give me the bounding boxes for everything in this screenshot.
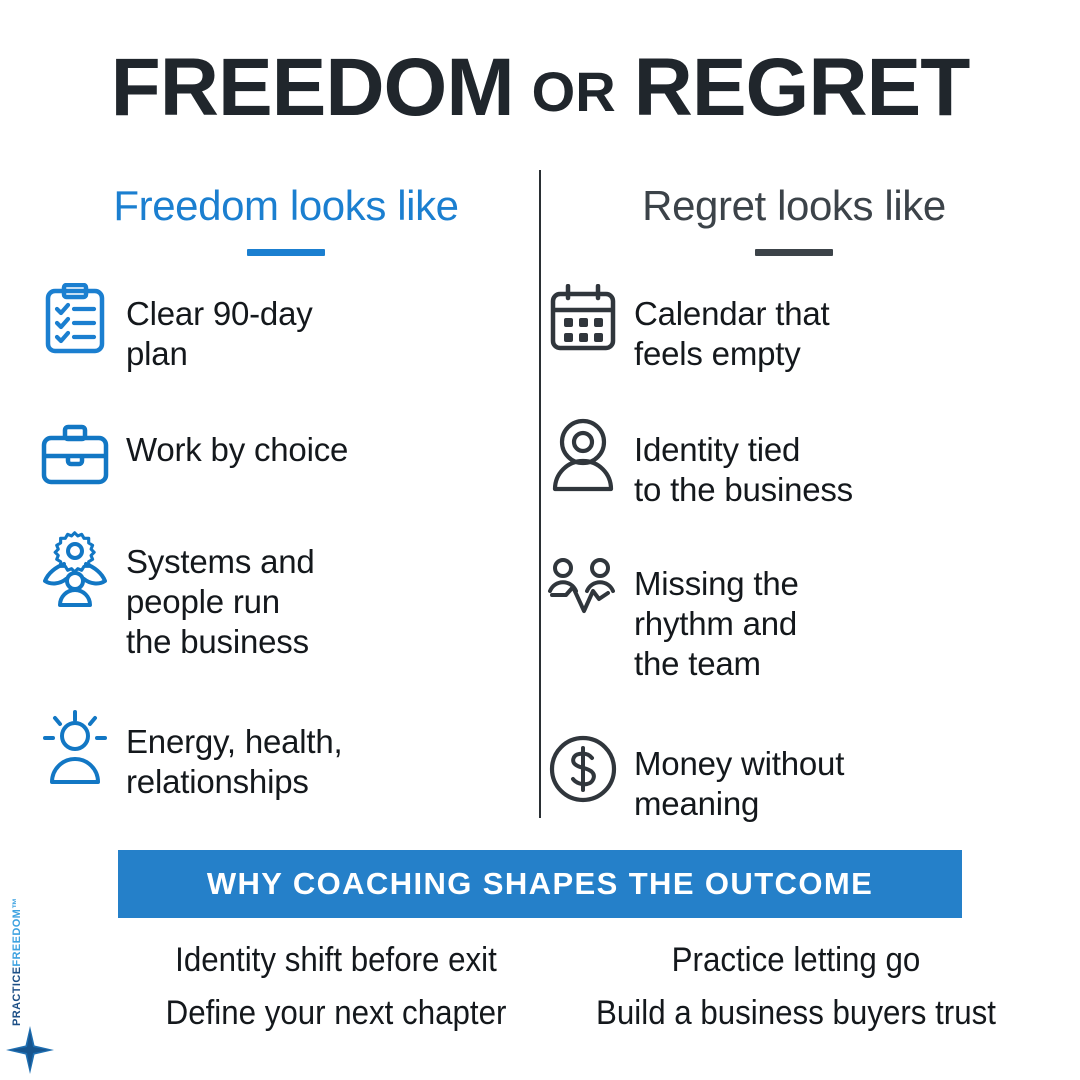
regret-column: Regret looks like [544,170,1044,830]
brand-wordmark: PRACTICEFREEDOM™ [11,930,23,1026]
page-title: FREEDOMORREGRET [0,44,1080,140]
list-item-label: Energy, health, relationships [114,704,343,802]
footer-row: Define your next chapter Build a busines… [110,987,1030,1040]
gear-people-icon [36,524,114,610]
list-item[interactable]: Systems and people run the business [36,524,536,662]
list-item-label: Systems and people run the business [114,524,315,662]
list-item-label: Work by choice [114,412,348,470]
list-item[interactable]: Missing the rhythm and the team [544,546,1044,684]
list-item-label: Identity tied to the business [622,412,853,510]
brand-wordmark-freedom: FREEDOM [11,909,23,967]
freedom-column-heading: Freedom looks like [36,170,536,232]
list-item[interactable]: Calendar that feels empty [544,276,1044,374]
regret-heading-rule [755,249,833,256]
radiant-person-icon [36,704,114,790]
list-item[interactable]: Work by choice [36,412,536,498]
brand-wordmark-practice: PRACTICE [11,967,23,1026]
brand-trademark: ™ [11,897,23,908]
freedom-heading-rule [247,249,325,256]
regret-column-heading: Regret looks like [544,170,1044,232]
title-word-freedom: FREEDOM [111,42,514,133]
list-item-label: Calendar that feels empty [622,276,830,374]
footer-phrase: Define your next chapter [128,987,544,1040]
footer-phrase-grid: Identity shift before exit Practice lett… [110,934,1030,1040]
footer-row: Identity shift before exit Practice lett… [110,934,1030,987]
list-item[interactable]: Clear 90-day plan [36,276,536,374]
list-item[interactable]: Money without meaning [544,726,1044,824]
footer-phrase: Practice letting go [581,934,1012,987]
dollar-circle-icon [544,726,622,812]
column-divider [539,170,541,818]
regret-item-list: Calendar that feels empty Identity tied … [544,276,1044,824]
clipboard-checklist-icon [36,276,114,362]
title-word-regret: REGRET [634,42,970,133]
list-item-label: Missing the rhythm and the team [622,546,799,684]
freedom-item-list: Clear 90-day plan Work by choice [36,276,536,802]
briefcase-icon [36,412,114,498]
footer-phrase: Build a business buyers trust [581,987,1012,1040]
four-point-star-icon [6,1026,54,1074]
freedom-column: Freedom looks like Clear 90-d [36,170,536,808]
list-item-label: Clear 90-day plan [114,276,313,374]
list-item[interactable]: Identity tied to the business [544,412,1044,510]
two-people-pulse-icon [544,546,622,632]
list-item[interactable]: Energy, health, relationships [36,704,536,802]
list-item-label: Money without meaning [622,726,844,824]
footer-phrase: Identity shift before exit [128,934,544,987]
title-conjunction: OR [532,60,616,123]
person-in-circle-icon [544,412,622,498]
calendar-icon [544,276,622,362]
coaching-banner-label: WHY COACHING SHAPES THE OUTCOME [207,866,873,902]
comparison-section: Freedom looks like Clear 90-d [0,170,1080,818]
brand-logo[interactable]: PRACTICEFREEDOM™ [2,946,58,1076]
coaching-banner: WHY COACHING SHAPES THE OUTCOME [118,850,962,918]
